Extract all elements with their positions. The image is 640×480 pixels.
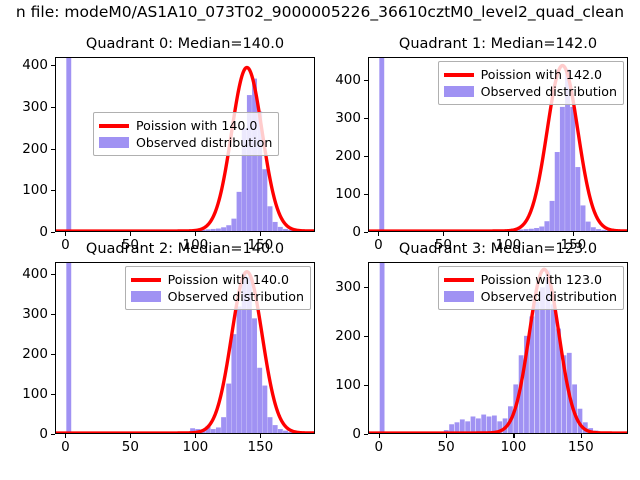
y-tick-label: 300 [22, 99, 48, 115]
x-tick-label: 100 [501, 439, 527, 455]
legend-patch-swatch-icon [99, 137, 129, 148]
legend-line-swatch-icon [99, 124, 129, 128]
legend-row-poisson: Poission with 140.0 [99, 117, 272, 134]
x-tick-mark [581, 434, 582, 438]
x-tick-mark [378, 232, 379, 236]
x-tick-mark [260, 434, 261, 438]
y-tick-mark [364, 434, 368, 435]
y-tick-mark [364, 156, 368, 157]
legend-label-poisson: Poission with 123.0 [481, 272, 602, 288]
x-tick-label: 50 [122, 439, 139, 455]
y-tick-mark [51, 65, 55, 66]
y-tick-mark [364, 80, 368, 81]
y-tick-label: 300 [335, 110, 361, 126]
y-tick-label: 200 [22, 346, 48, 362]
legend-label-poisson: Poission with 140.0 [136, 118, 257, 134]
legend-label-poisson: Poission with 142.0 [481, 67, 602, 83]
x-tick-mark [65, 434, 66, 438]
y-tick-label: 100 [335, 186, 361, 202]
y-tick-label: 400 [335, 72, 361, 88]
y-tick-mark [364, 287, 368, 288]
x-tick-mark [443, 232, 444, 236]
y-tick-label: 300 [22, 306, 48, 322]
y-tick-label: 100 [335, 377, 361, 393]
x-tick-label: 150 [568, 439, 594, 455]
y-tick-label: 100 [22, 182, 48, 198]
y-tick-label: 0 [39, 426, 48, 442]
x-tick-mark [195, 434, 196, 438]
figure-suptitle: n file: modeM0/AS1A10_073T02_9000005226_… [0, 2, 640, 22]
legend-row-poisson: Poission with 140.0 [131, 271, 304, 288]
subplot-quadrant-2: Quadrant 2: Median=140.0 050100150010020… [55, 262, 315, 434]
x-tick-mark [573, 232, 574, 236]
y-tick-label: 100 [22, 386, 48, 402]
y-tick-label: 300 [335, 279, 361, 295]
legend-row-poisson: Poission with 142.0 [444, 66, 617, 83]
subplot-quadrant-1: Quadrant 1: Median=142.0 050100150010020… [368, 57, 628, 232]
legend-label-observed: Observed distribution [481, 289, 617, 305]
y-tick-mark [51, 434, 55, 435]
legend-label-observed: Observed distribution [168, 289, 304, 305]
legend-row-observed: Observed distribution [444, 288, 617, 305]
legend-quadrant-1[interactable]: Poission with 142.0Observed distribution [438, 61, 624, 105]
y-tick-label: 400 [22, 57, 48, 73]
legend-label-poisson: Poission with 140.0 [168, 272, 289, 288]
subplot-title-quadrant-3: Quadrant 3: Median=123.0 [308, 240, 640, 258]
matplotlib-figure: n file: modeM0/AS1A10_073T02_9000005226_… [0, 0, 640, 480]
x-tick-mark [446, 434, 447, 438]
legend-label-observed: Observed distribution [481, 84, 617, 100]
x-tick-mark [379, 434, 380, 438]
legend-line-swatch-icon [444, 73, 474, 77]
x-tick-label: 0 [61, 439, 70, 455]
x-tick-mark [513, 434, 514, 438]
subplot-quadrant-3: Quadrant 3: Median=123.0 050100150010020… [368, 262, 628, 434]
y-tick-mark [51, 190, 55, 191]
legend-row-observed: Observed distribution [99, 134, 272, 151]
y-tick-mark [364, 194, 368, 195]
legend-quadrant-2[interactable]: Poission with 140.0Observed distribution [125, 266, 311, 310]
x-tick-mark [508, 232, 509, 236]
legend-row-observed: Observed distribution [444, 83, 617, 100]
x-tick-mark [65, 232, 66, 236]
y-tick-mark [51, 149, 55, 150]
y-tick-mark [51, 274, 55, 275]
x-tick-mark [260, 232, 261, 236]
legend-row-poisson: Poission with 123.0 [444, 271, 617, 288]
legend-label-observed: Observed distribution [136, 135, 272, 151]
y-tick-mark [51, 314, 55, 315]
legend-line-swatch-icon [131, 278, 161, 282]
y-tick-mark [51, 232, 55, 233]
x-tick-label: 150 [248, 439, 274, 455]
legend-patch-swatch-icon [131, 291, 161, 302]
subplot-quadrant-0: Quadrant 0: Median=140.0 050100150010020… [55, 57, 315, 232]
y-tick-mark [364, 336, 368, 337]
x-tick-label: 50 [438, 439, 455, 455]
y-tick-mark [364, 385, 368, 386]
subplot-title-quadrant-1: Quadrant 1: Median=142.0 [308, 35, 640, 53]
legend-row-observed: Observed distribution [131, 288, 304, 305]
y-tick-label: 400 [22, 266, 48, 282]
y-tick-mark [51, 107, 55, 108]
legend-patch-swatch-icon [444, 291, 474, 302]
y-tick-mark [51, 394, 55, 395]
y-tick-mark [364, 118, 368, 119]
y-tick-mark [364, 232, 368, 233]
y-tick-label: 200 [22, 141, 48, 157]
x-tick-mark [195, 232, 196, 236]
x-tick-label: 0 [374, 439, 383, 455]
legend-quadrant-3[interactable]: Poission with 123.0Observed distribution [438, 266, 624, 310]
legend-quadrant-0[interactable]: Poission with 140.0Observed distribution [93, 112, 279, 156]
x-tick-mark [130, 232, 131, 236]
x-tick-label: 100 [183, 439, 209, 455]
x-tick-mark [130, 434, 131, 438]
y-tick-label: 0 [352, 426, 361, 442]
legend-line-swatch-icon [444, 278, 474, 282]
y-tick-label: 0 [352, 224, 361, 240]
y-tick-label: 200 [335, 328, 361, 344]
y-tick-label: 200 [335, 148, 361, 164]
y-tick-mark [51, 354, 55, 355]
legend-patch-swatch-icon [444, 86, 474, 97]
figure-suptitle-text: n file: modeM0/AS1A10_073T02_9000005226_… [16, 2, 624, 22]
y-tick-label: 0 [39, 224, 48, 240]
